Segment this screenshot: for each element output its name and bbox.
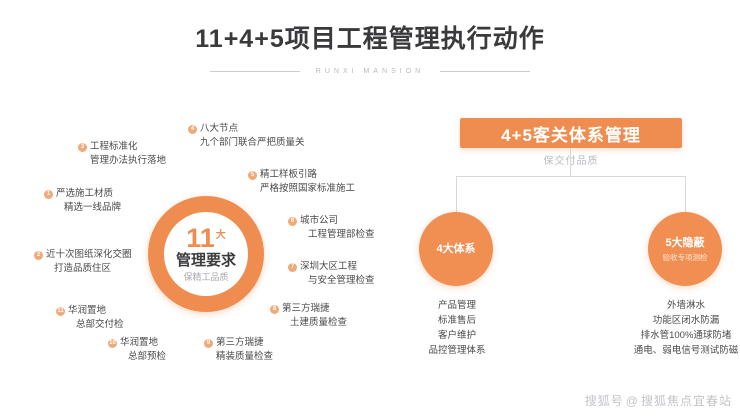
list-item: 10 华润置地 总部预检 xyxy=(108,336,166,364)
section-banner-label: 4+5客关体系管理 xyxy=(501,121,641,146)
item-line-2: 总部交付检 xyxy=(68,318,124,332)
item-label: 城市公司 工程管理部检查 xyxy=(300,214,375,242)
item-line-1: 精工样板引路 xyxy=(260,168,355,182)
item-label: 第三方瑞捷 精装质量检查 xyxy=(216,336,273,364)
rule-left xyxy=(210,71,300,72)
item-line-1: 华润置地 xyxy=(120,336,166,350)
item-label: 华润置地 总部交付检 xyxy=(68,304,124,332)
page-title: 11+4+5项目工程管理执行动作 xyxy=(0,22,740,56)
item-line-1: 严选施工材质 xyxy=(56,187,121,201)
item-line-1: 第三方瑞捷 xyxy=(282,302,347,316)
branch-circle-a: 4大体系 xyxy=(419,212,493,286)
center-donut: 11 大 管理要求 保精工品质 xyxy=(148,196,264,312)
rule-right xyxy=(440,71,530,72)
list-item: 11 华润置地 总部交付检 xyxy=(56,304,124,332)
item-line-2: 精装质量检查 xyxy=(216,350,273,364)
branch-b-circle-line1: 5大隐蔽 xyxy=(665,236,704,251)
list-item: 排水管100%通球防堵 xyxy=(576,328,740,343)
branch-a-list: 产品管理 标准售后 客户维护 品控管理体系 xyxy=(400,298,514,358)
connector-drop-left xyxy=(456,176,457,214)
item-label: 严选施工材质 精选一线品牌 xyxy=(56,187,121,215)
item-line-2: 土建质量检查 xyxy=(282,316,347,330)
left-cluster: 11 大 管理要求 保精工品质 3 工程标准化 管理办法执行落地 4 八大节点 … xyxy=(0,96,420,386)
section-banner-note: 保交付品质 xyxy=(460,152,682,167)
branch-circle-b: 5大隐蔽 验收专项测检 xyxy=(648,212,722,286)
item-number: 10 xyxy=(108,339,117,348)
list-item: 功能区闭水防漏 xyxy=(576,313,740,328)
item-number: 3 xyxy=(78,143,87,152)
list-item: 品控管理体系 xyxy=(400,343,514,358)
item-label: 近十次图纸深化交圈 打造品质住区 xyxy=(46,248,132,276)
infographic-canvas: 11+4+5项目工程管理执行动作 RUNXI MANSION 11 大 管理要求… xyxy=(0,0,740,417)
item-line-1: 第三方瑞捷 xyxy=(216,336,273,350)
center-number: 11 大 xyxy=(186,224,226,250)
list-item: 标准售后 xyxy=(400,313,514,328)
item-number: 11 xyxy=(56,307,65,316)
subtitle-row: RUNXI MANSION xyxy=(155,64,585,78)
watermark-suffix: 搜狐焦点宜春站 xyxy=(641,392,732,409)
list-item: 3 工程标准化 管理办法执行落地 xyxy=(78,140,166,168)
item-line-2: 打造品质住区 xyxy=(46,262,132,276)
center-number-unit: 大 xyxy=(216,224,226,247)
item-label: 深圳大区工程 与安全管理检查 xyxy=(300,260,375,288)
item-line-2: 精选一线品牌 xyxy=(56,201,121,215)
branch-a-circle-line1: 4大体系 xyxy=(436,242,475,257)
item-label: 工程标准化 管理办法执行落地 xyxy=(90,140,166,168)
list-item: 9 第三方瑞捷 精装质量检查 xyxy=(204,336,273,364)
item-label: 第三方瑞捷 土建质量检查 xyxy=(282,302,347,330)
item-line-2: 九个部门联合严把质量关 xyxy=(200,136,305,150)
item-line-2: 管理办法执行落地 xyxy=(90,154,166,168)
item-line-2: 严格按照国家标准施工 xyxy=(260,182,355,196)
list-item: 2 近十次图纸深化交圈 打造品质住区 xyxy=(34,248,132,276)
center-note-label: 保精工品质 xyxy=(183,271,228,284)
item-line-1: 八大节点 xyxy=(200,122,305,136)
watermark-prefix: 搜狐号 xyxy=(585,392,624,409)
item-line-1: 工程标准化 xyxy=(90,140,166,154)
item-number: 4 xyxy=(188,125,197,134)
item-number: 8 xyxy=(270,305,279,314)
center-main-label: 管理要求 xyxy=(176,251,236,270)
header: 11+4+5项目工程管理执行动作 RUNXI MANSION xyxy=(0,22,740,78)
list-item: 客户维护 xyxy=(400,328,514,343)
item-number: 1 xyxy=(44,190,53,199)
watermark: 搜狐号 @ 搜狐焦点宜春站 xyxy=(585,392,732,409)
item-line-1: 深圳大区工程 xyxy=(300,260,375,274)
item-label: 精工样板引路 严格按照国家标准施工 xyxy=(260,168,355,196)
branch-b-circle-line2: 验收专项测检 xyxy=(663,252,708,263)
list-item: 产品管理 xyxy=(400,298,514,313)
branch-b-list: 外墙淋水 功能区闭水防漏 排水管100%通球防堵 通电、弱电信号测试防磁 xyxy=(576,298,740,358)
center-donut-hole: 11 大 管理要求 保精工品质 xyxy=(164,212,248,296)
item-line-1: 城市公司 xyxy=(300,214,375,228)
section-banner: 4+5客关体系管理 xyxy=(460,118,682,148)
item-number: 2 xyxy=(34,251,43,260)
right-cluster: 4+5客关体系管理 保交付品质 4大体系 产品管理 标准售后 客户维护 品控管理… xyxy=(400,96,740,396)
page-subtitle: RUNXI MANSION xyxy=(316,68,424,75)
item-number: 9 xyxy=(204,339,213,348)
list-item: 通电、弱电信号测试防磁 xyxy=(576,343,740,358)
item-label: 八大节点 九个部门联合严把质量关 xyxy=(200,122,305,150)
connector-stem xyxy=(570,148,571,176)
item-line-2: 与安全管理检查 xyxy=(300,274,375,288)
at-icon: @ xyxy=(626,394,639,408)
list-item: 外墙淋水 xyxy=(576,298,740,313)
item-line-2: 总部预检 xyxy=(120,350,166,364)
item-number: 7 xyxy=(288,263,297,272)
item-number: 6 xyxy=(288,217,297,226)
list-item: 7 深圳大区工程 与安全管理检查 xyxy=(288,260,375,288)
list-item: 4 八大节点 九个部门联合严把质量关 xyxy=(188,122,305,150)
list-item: 8 第三方瑞捷 土建质量检查 xyxy=(270,302,347,330)
connector-bar xyxy=(456,176,685,177)
item-line-2: 工程管理部检查 xyxy=(300,228,375,242)
center-number-value: 11 xyxy=(186,227,215,250)
connector-drop-right xyxy=(685,176,686,214)
list-item: 5 精工样板引路 严格按照国家标准施工 xyxy=(248,168,355,196)
item-line-1: 近十次图纸深化交圈 xyxy=(46,248,132,262)
list-item: 6 城市公司 工程管理部检查 xyxy=(288,214,375,242)
list-item: 1 严选施工材质 精选一线品牌 xyxy=(44,187,121,215)
item-label: 华润置地 总部预检 xyxy=(120,336,166,364)
item-number: 5 xyxy=(248,171,257,180)
item-line-1: 华润置地 xyxy=(68,304,124,318)
